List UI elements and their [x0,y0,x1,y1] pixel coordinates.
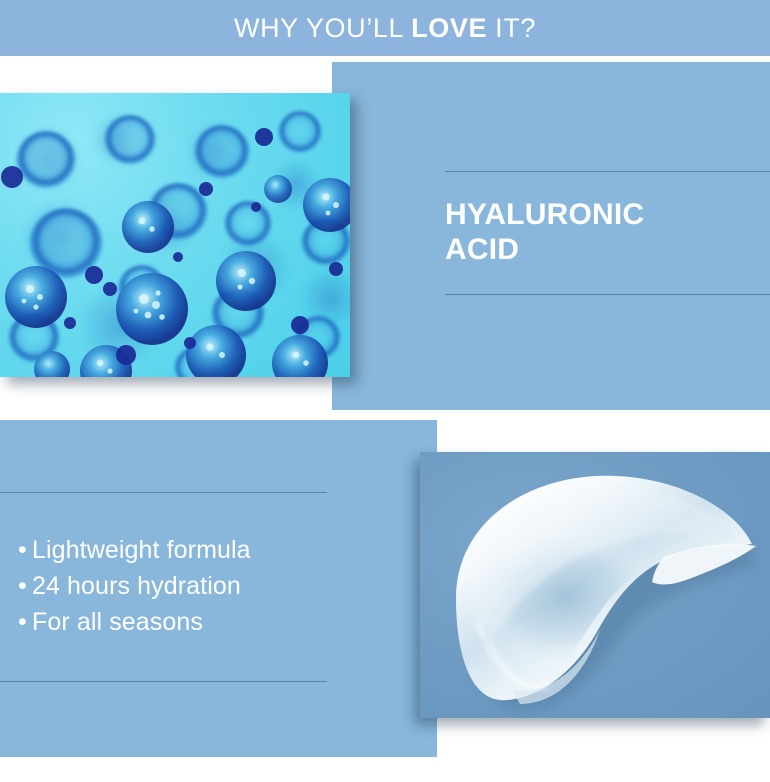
ingredient-rule-top [445,171,770,172]
benefits-panel: •Lightweight formula •24 hours hydration… [0,420,437,757]
benefits-list: •Lightweight formula •24 hours hydration… [18,532,348,640]
bullet-dot: • [18,604,32,640]
infographic-canvas: WHY YOU’LL LOVE IT? HYALURONICACID [0,0,770,782]
list-item: •24 hours hydration [18,568,348,604]
page-title-emphasis: LOVE [411,13,487,43]
benefits-rule-top [0,492,327,493]
list-item: •Lightweight formula [18,532,348,568]
cream-photo-artwork [420,452,770,718]
list-item-label: For all seasons [32,608,203,636]
page-title-part-2: IT? [487,13,536,43]
header-bar: WHY YOU’LL LOVE IT? [0,0,770,56]
cells-photo-artwork [0,93,350,377]
bullet-dot: • [18,568,32,604]
list-item-label: 24 hours hydration [32,572,241,600]
cells-photo [0,93,350,377]
ingredient-title-line-2: ACID [445,233,519,266]
ingredient-title-line-1: HYALURONIC [445,198,644,231]
page-title: WHY YOU’LL LOVE IT? [234,13,536,44]
list-item-label: Lightweight formula [32,536,251,564]
benefits-rule-bottom [0,681,327,682]
cream-photo [420,452,770,718]
ingredient-panel: HYALURONICACID [332,62,770,410]
page-title-part-1: WHY YOU’LL [234,13,411,43]
bullet-dot: • [18,532,32,568]
ingredient-title: HYALURONICACID [445,197,745,267]
ingredient-rule-bottom [445,294,770,295]
list-item: •For all seasons [18,604,348,640]
